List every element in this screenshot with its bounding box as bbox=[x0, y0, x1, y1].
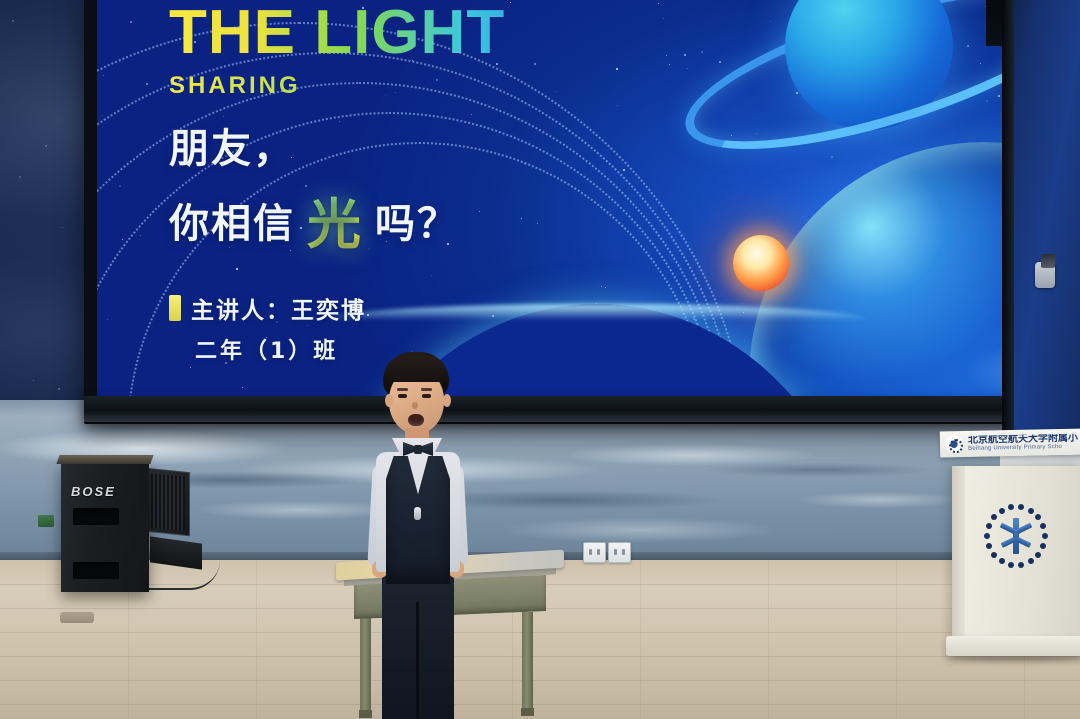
beihang-logo-icon bbox=[945, 435, 963, 453]
nose bbox=[412, 402, 418, 409]
classroom-presentation-photo: THE LIGHT SHARING 朋友， 你相信 光 吗？ 主讲人：王奕博 二… bbox=[0, 0, 1080, 719]
presenter-name-label: 主讲人：王奕博 bbox=[191, 291, 366, 325]
saturn-planet bbox=[737, 0, 1003, 162]
right-eye bbox=[422, 394, 431, 398]
wall-outlet-right bbox=[608, 542, 631, 563]
podium-body bbox=[952, 466, 1080, 642]
green-wall-box bbox=[38, 515, 54, 527]
bow-tie-knot bbox=[414, 445, 422, 454]
slide-title-sub: SHARING bbox=[169, 72, 639, 100]
podium-base bbox=[946, 636, 1080, 656]
right-blue-wall-panel bbox=[1002, 0, 1080, 442]
lectern-podium bbox=[952, 466, 1080, 666]
right-ear bbox=[443, 394, 451, 407]
bose-brand-label: BOSE bbox=[71, 484, 116, 499]
orange-star bbox=[733, 235, 789, 291]
presenter-class-label: 二年（1）班 bbox=[195, 333, 639, 365]
desk-leg-right bbox=[522, 612, 533, 710]
left-eyebrow bbox=[397, 388, 408, 391]
podium-side-panel bbox=[952, 466, 965, 642]
slide-title-main: THE LIGHT bbox=[169, 2, 639, 64]
school-name-en: Beihang University Primary Scho bbox=[968, 444, 1078, 453]
wall-sensor-fixture bbox=[1035, 262, 1055, 288]
screen-right-bezel bbox=[1002, 0, 1014, 442]
left-ear bbox=[385, 394, 393, 407]
wall-outlet-left bbox=[583, 542, 606, 563]
speaker-amplifier bbox=[146, 468, 190, 537]
left-eye bbox=[398, 394, 407, 398]
accent-bar bbox=[169, 295, 181, 321]
school-banner-text: 北京航空航天大学附属小 Beihang University Primary S… bbox=[968, 433, 1078, 452]
desk-foot-right bbox=[521, 708, 534, 716]
slide-chinese-line-1: 朋友， bbox=[169, 116, 639, 174]
presenter-credit: 主讲人：王奕博 bbox=[169, 289, 378, 327]
bose-speaker: BOSE bbox=[61, 462, 149, 592]
planet-ring-front bbox=[669, 0, 1003, 183]
right-eyebrow bbox=[421, 388, 432, 391]
trousers bbox=[382, 566, 454, 719]
slide-text-block: THE LIGHT SHARING 朋友， 你相信 光 吗？ 主讲人：王奕博 二… bbox=[169, 2, 639, 365]
slide-chinese-line-2: 你相信 光 吗？ bbox=[169, 180, 639, 259]
vest-pin-icon bbox=[414, 507, 421, 520]
student-presenter bbox=[352, 352, 484, 719]
amplifier-vents bbox=[151, 473, 185, 531]
emblem-glyph bbox=[998, 518, 1034, 554]
speaker-port-upper bbox=[73, 508, 119, 525]
led-screen-display: THE LIGHT SHARING 朋友， 你相信 光 吗？ 主讲人：王奕博 二… bbox=[97, 0, 1003, 396]
chinese-text-post: 吗？ bbox=[375, 191, 459, 249]
beihang-emblem-icon bbox=[982, 502, 1050, 570]
speaker-top-surface bbox=[56, 455, 153, 464]
floor-vent bbox=[60, 612, 94, 623]
chinese-highlight-char: 光 bbox=[299, 180, 371, 259]
school-banner: 北京航空航天大学附属小 Beihang University Primary S… bbox=[940, 428, 1080, 457]
speaker-port-lower bbox=[73, 562, 119, 579]
screen-bottom-bezel bbox=[84, 396, 1018, 422]
mouth-open-speaking bbox=[408, 414, 424, 426]
chinese-text-pre: 你相信 bbox=[169, 191, 295, 249]
